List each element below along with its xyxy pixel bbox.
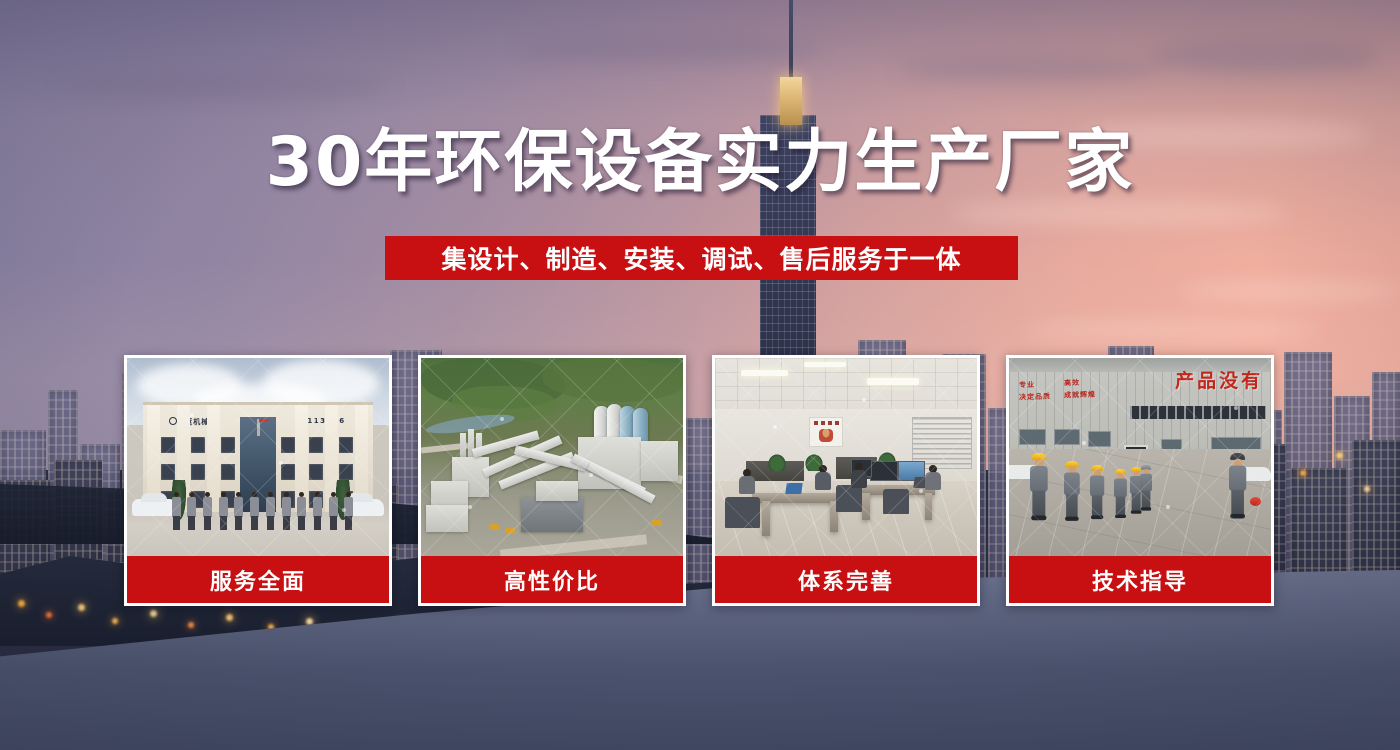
card-caption-label: 服务全面 (210, 564, 306, 596)
subtitle-banner: 集设计、制造、安装、调试、售后服务于一体 (385, 236, 1018, 280)
factory-wall-slogan: 产品没有 (1175, 366, 1263, 393)
card-caption: 技术指导 (1006, 556, 1274, 606)
card-caption-label: 体系完善 (798, 564, 894, 596)
feature-card-row: 中蓝机械 4113456 (124, 355, 1277, 606)
factory-wall-slogan-small-3: 决定品质 (1019, 391, 1051, 402)
card-caption-label: 技术指导 (1092, 564, 1188, 596)
feature-card[interactable]: 中蓝机械 4113456 (124, 355, 392, 606)
card-caption: 高性价比 (418, 556, 686, 606)
card-caption: 体系完善 (712, 556, 980, 606)
company-headquarters-photo: 中蓝机械 4113456 (124, 355, 392, 556)
subtitle-text: 集设计、制造、安装、调试、售后服务于一体 (441, 240, 961, 276)
card-caption-label: 高性价比 (504, 564, 600, 596)
workers-training-photo: 产品没有 专业 决定品质 高效 成就辉煌 (1006, 355, 1274, 556)
feature-card[interactable]: 体系完善 (712, 355, 980, 606)
promo-banner: 30年环保设备实力生产厂家 集设计、制造、安装、调试、售后服务于一体 中蓝机械 … (0, 0, 1400, 750)
factory-wall-slogan-small-4: 成就辉煌 (1064, 389, 1096, 400)
tower-crown (780, 77, 802, 125)
tower-spire (789, 0, 793, 80)
aerial-plant-photo (418, 355, 686, 556)
office-interior-photo (712, 355, 980, 556)
page-title: 30年环保设备实力生产厂家 (0, 129, 1400, 197)
feature-card[interactable]: 产品没有 专业 决定品质 高效 成就辉煌 (1006, 355, 1274, 606)
feature-card[interactable]: 高性价比 (418, 355, 686, 606)
card-caption: 服务全面 (124, 556, 392, 606)
factory-wall-slogan-small-1: 专业 (1019, 379, 1035, 390)
factory-wall-slogan-small-2: 高效 (1064, 378, 1080, 389)
